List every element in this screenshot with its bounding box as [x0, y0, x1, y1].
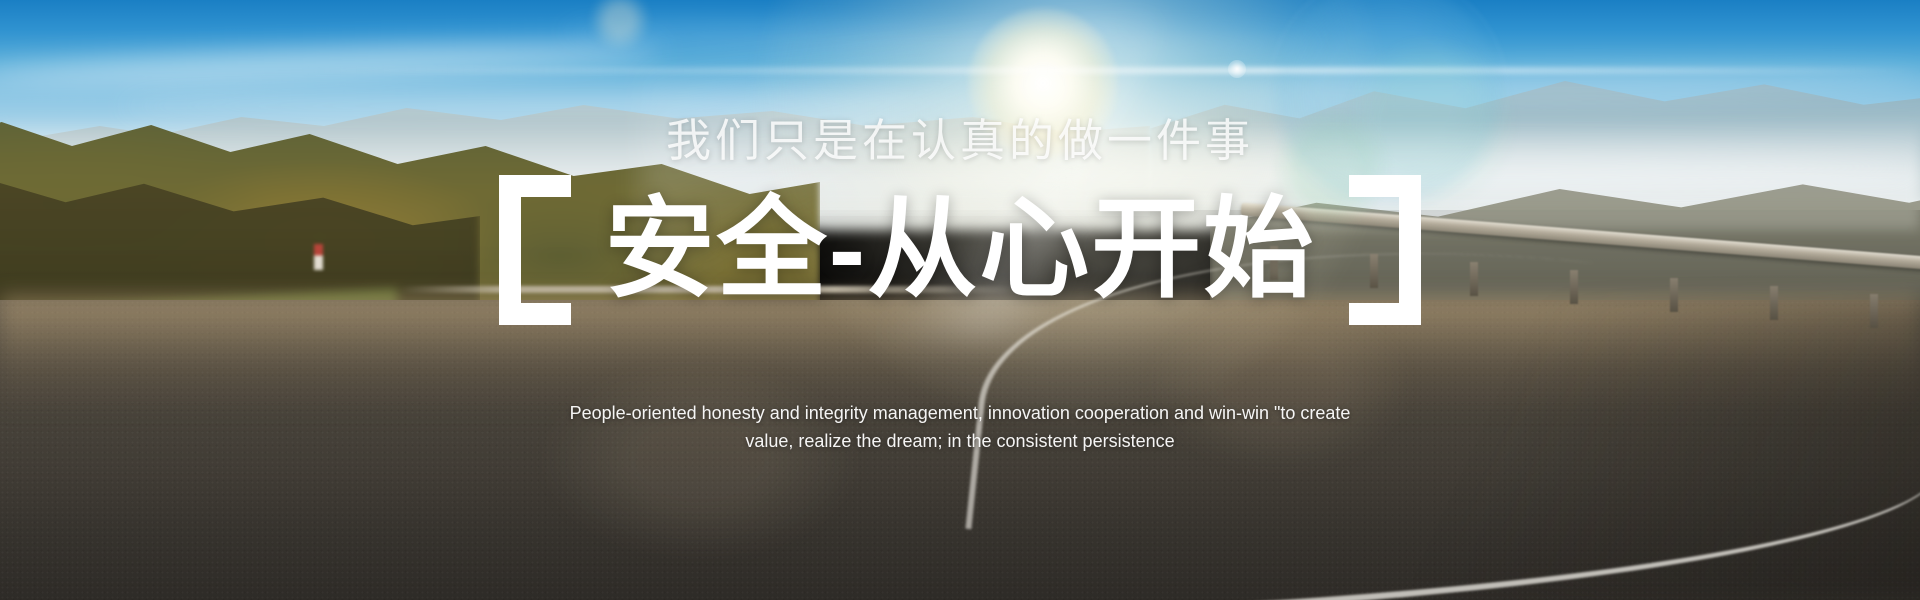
- bracket-left-icon: [499, 175, 571, 325]
- bracket-right-icon: [1349, 175, 1421, 325]
- hero-banner: 我们只是在认真的做一件事 安全-从心开始 People-oriented hon…: [0, 0, 1920, 600]
- banner-headline-group: 安全-从心开始: [0, 175, 1920, 325]
- banner-text-overlay: 我们只是在认真的做一件事 安全-从心开始 People-oriented hon…: [0, 0, 1920, 600]
- banner-subtitle: People-oriented honesty and integrity ma…: [550, 400, 1370, 456]
- banner-tagline: 我们只是在认真的做一件事: [0, 118, 1920, 163]
- banner-headline: 安全-从心开始: [605, 195, 1316, 305]
